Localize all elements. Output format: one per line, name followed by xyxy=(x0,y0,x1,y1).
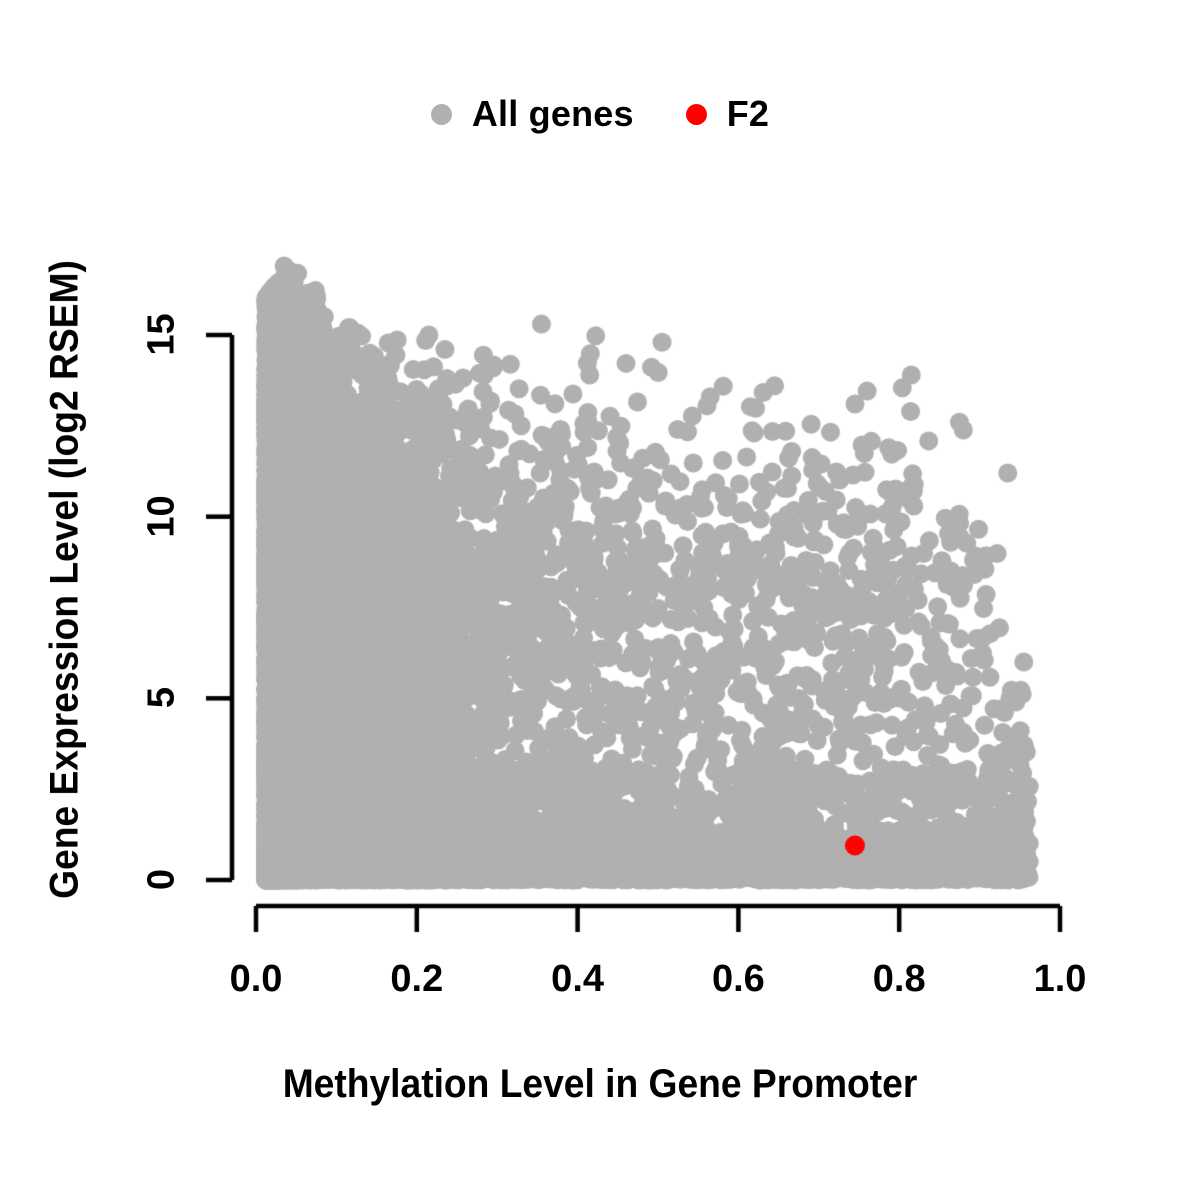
legend-item-all-genes: All genes xyxy=(431,96,634,132)
y-tick-label: 10 xyxy=(141,494,184,538)
x-tick-label: 0.8 xyxy=(873,958,926,1001)
x-tick-label: 0.2 xyxy=(390,958,443,1001)
scatter-plot-figure: All genes F2 Methylation Level in Gene P… xyxy=(0,0,1200,1200)
legend-marker-circle-icon xyxy=(686,104,707,125)
y-axis-title: Gene Expression Level (log2 RSEM) xyxy=(43,189,88,970)
x-tick-label: 0.4 xyxy=(551,958,604,1001)
legend: All genes F2 xyxy=(0,86,1200,142)
x-axis-title: Methylation Level in Gene Promoter xyxy=(42,1062,1158,1107)
y-tick-label: 15 xyxy=(141,313,184,357)
scatter-plot-canvas xyxy=(0,0,1200,1200)
legend-label-all-genes: All genes xyxy=(472,96,634,132)
x-tick-label: 0.0 xyxy=(230,958,283,1001)
y-tick-label: 0 xyxy=(141,858,184,902)
x-tick-label: 0.6 xyxy=(712,958,765,1001)
y-tick-label: 5 xyxy=(141,676,184,720)
x-tick-label: 1.0 xyxy=(1034,958,1087,1001)
legend-label-f2: F2 xyxy=(727,96,769,132)
legend-item-f2: F2 xyxy=(686,96,769,132)
legend-marker-circle-icon xyxy=(431,104,452,125)
